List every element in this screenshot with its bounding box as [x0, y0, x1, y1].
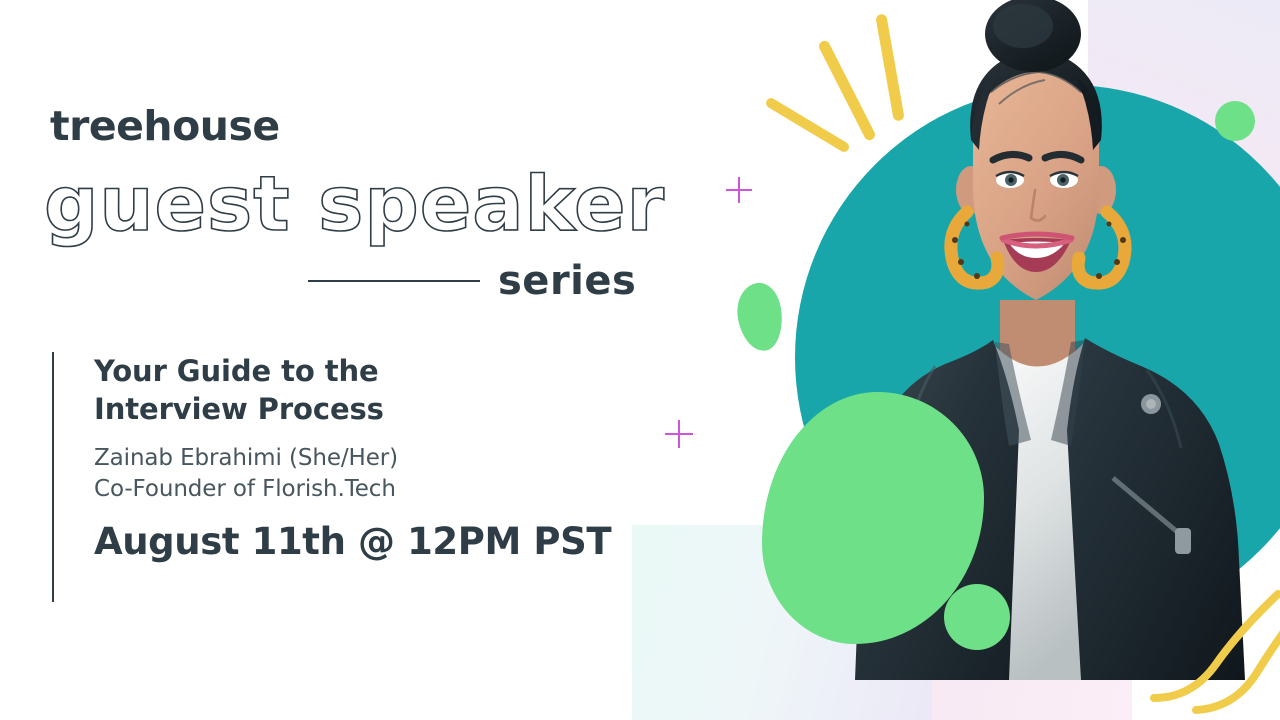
- plus-mark-icon-upper: [726, 177, 752, 203]
- event-datetime: August 11th @ 12PM PST: [94, 522, 611, 563]
- talk-title-line-1: Your Guide to the: [94, 354, 379, 388]
- series-row: series: [308, 258, 624, 304]
- talk-title-line-2: Interview Process: [94, 392, 384, 426]
- series-label: series: [498, 261, 636, 301]
- series-divider: [308, 280, 480, 282]
- plus-mark-icon-lower: [665, 420, 693, 448]
- brand-wordmark: treehouse: [50, 106, 280, 147]
- green-pill-shape: [733, 280, 786, 353]
- squiggle-lines-icon: [1150, 580, 1280, 720]
- green-circle-shape-bottom: [944, 584, 1010, 650]
- promo-slide: treehouse guest speaker series Your Guid…: [0, 0, 1280, 720]
- headline-outline: guest speaker: [44, 166, 665, 242]
- talk-title: Your Guide to the Interview Process: [94, 352, 611, 429]
- speaker-name: Zainab Ebrahimi (She/Her): [94, 443, 611, 475]
- speaker-role: Co-Founder of Florish.Tech: [94, 474, 611, 506]
- event-info-block: Your Guide to the Interview Process Zain…: [52, 352, 611, 602]
